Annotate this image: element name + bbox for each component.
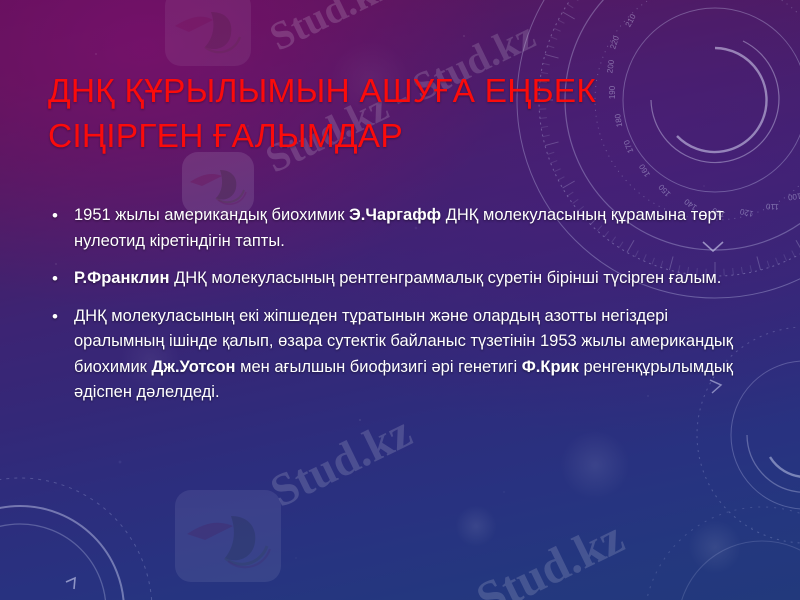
slide-title: ДНҚ ҚҰРЫЛЫМЫН АШУҒА ЕҢБЕК СІҢІРГЕН ҒАЛЫМ… — [48, 69, 738, 159]
ring-decoration-bottom-right — [612, 505, 800, 600]
bullet-text: ДНҚ молекуласының екі жіпшеден тұратынын… — [74, 304, 752, 406]
bokeh-blob — [688, 520, 742, 574]
dial-label: 100 — [787, 191, 800, 202]
dial-label: 150 — [657, 183, 673, 199]
presentation-slide: 210 220 200 190 180 170 160 150 140 130 … — [0, 0, 800, 600]
bullet-item: • ДНҚ молекуласының екі жіпшеден тұратын… — [52, 304, 752, 406]
ring-decoration-bottom-left — [0, 470, 160, 600]
bullet-marker-icon: • — [52, 266, 74, 292]
watermark-text-lower-left: Stud.kz — [262, 404, 420, 517]
bullet-item: • Р.Франклин ДНҚ молекуласының рентгенгр… — [52, 266, 752, 292]
dial-label: 210 — [624, 12, 638, 28]
hummingbird-logo — [165, 0, 251, 66]
bullet-text: Р.Франклин ДНҚ молекуласының рентгенграм… — [74, 266, 752, 292]
bullet-marker-icon: • — [52, 304, 74, 330]
dial-label: 160 — [637, 162, 652, 178]
bullet-item: • 1951 жылы американдық биохимик Э.Чарга… — [52, 203, 752, 254]
bokeh-blob — [560, 430, 630, 500]
watermark-text-top: Stud.kz - Stud.kz — [262, 0, 546, 60]
dial-label: 110 — [766, 202, 779, 211]
bullet-marker-icon: • — [52, 203, 74, 229]
watermark-text-bottom-right: Stud.kz — [468, 510, 632, 600]
slide-body: • 1951 жылы американдық биохимик Э.Чарга… — [52, 203, 752, 406]
dial-label: 220 — [608, 35, 621, 50]
bokeh-blob — [455, 505, 497, 547]
bullet-text: 1951 жылы американдық биохимик Э.Чаргафф… — [74, 203, 752, 254]
hummingbird-logo — [175, 490, 281, 582]
